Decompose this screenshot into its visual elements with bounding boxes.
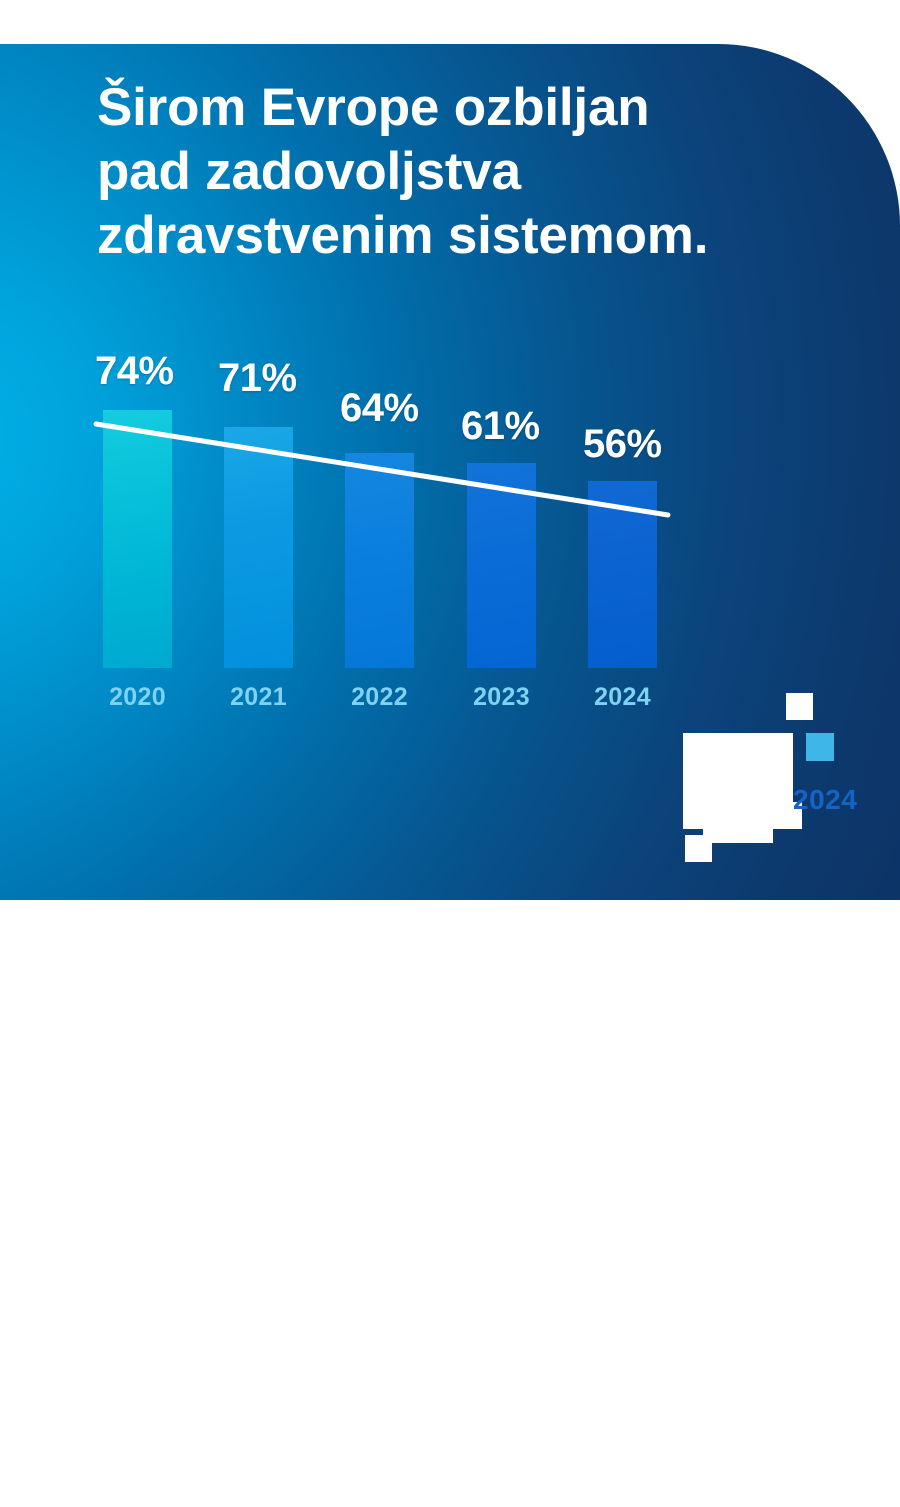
bar-2021 <box>224 427 293 668</box>
category-label-2022: 2022 <box>345 683 414 712</box>
pixel-square-top <box>786 693 813 720</box>
stada-health-report-logo: STADA HEALTH REPORT 2024 <box>575 685 865 865</box>
infographic-canvas: Širom Evrope ozbiljan pad zadovoljstva z… <box>0 0 900 900</box>
logo-white-block-lower <box>703 821 773 843</box>
bar-2020 <box>103 410 172 668</box>
logo-white-block-main <box>683 751 793 829</box>
value-label-2022: 64% <box>340 386 419 431</box>
bar-2022 <box>345 453 414 668</box>
category-label-2021: 2021 <box>224 683 293 712</box>
bar-2024 <box>588 481 657 668</box>
value-label-2024: 56% <box>583 422 662 467</box>
category-label-2023: 2023 <box>467 683 536 712</box>
pixel-square-accent-cyan <box>806 733 834 761</box>
logo-year: 2024 <box>793 784 857 816</box>
value-label-2021: 71% <box>218 356 297 401</box>
category-label-2020: 2020 <box>103 683 172 712</box>
value-label-2023: 61% <box>461 404 540 449</box>
value-label-2020: 74% <box>95 349 174 394</box>
bar-2023 <box>467 463 536 668</box>
